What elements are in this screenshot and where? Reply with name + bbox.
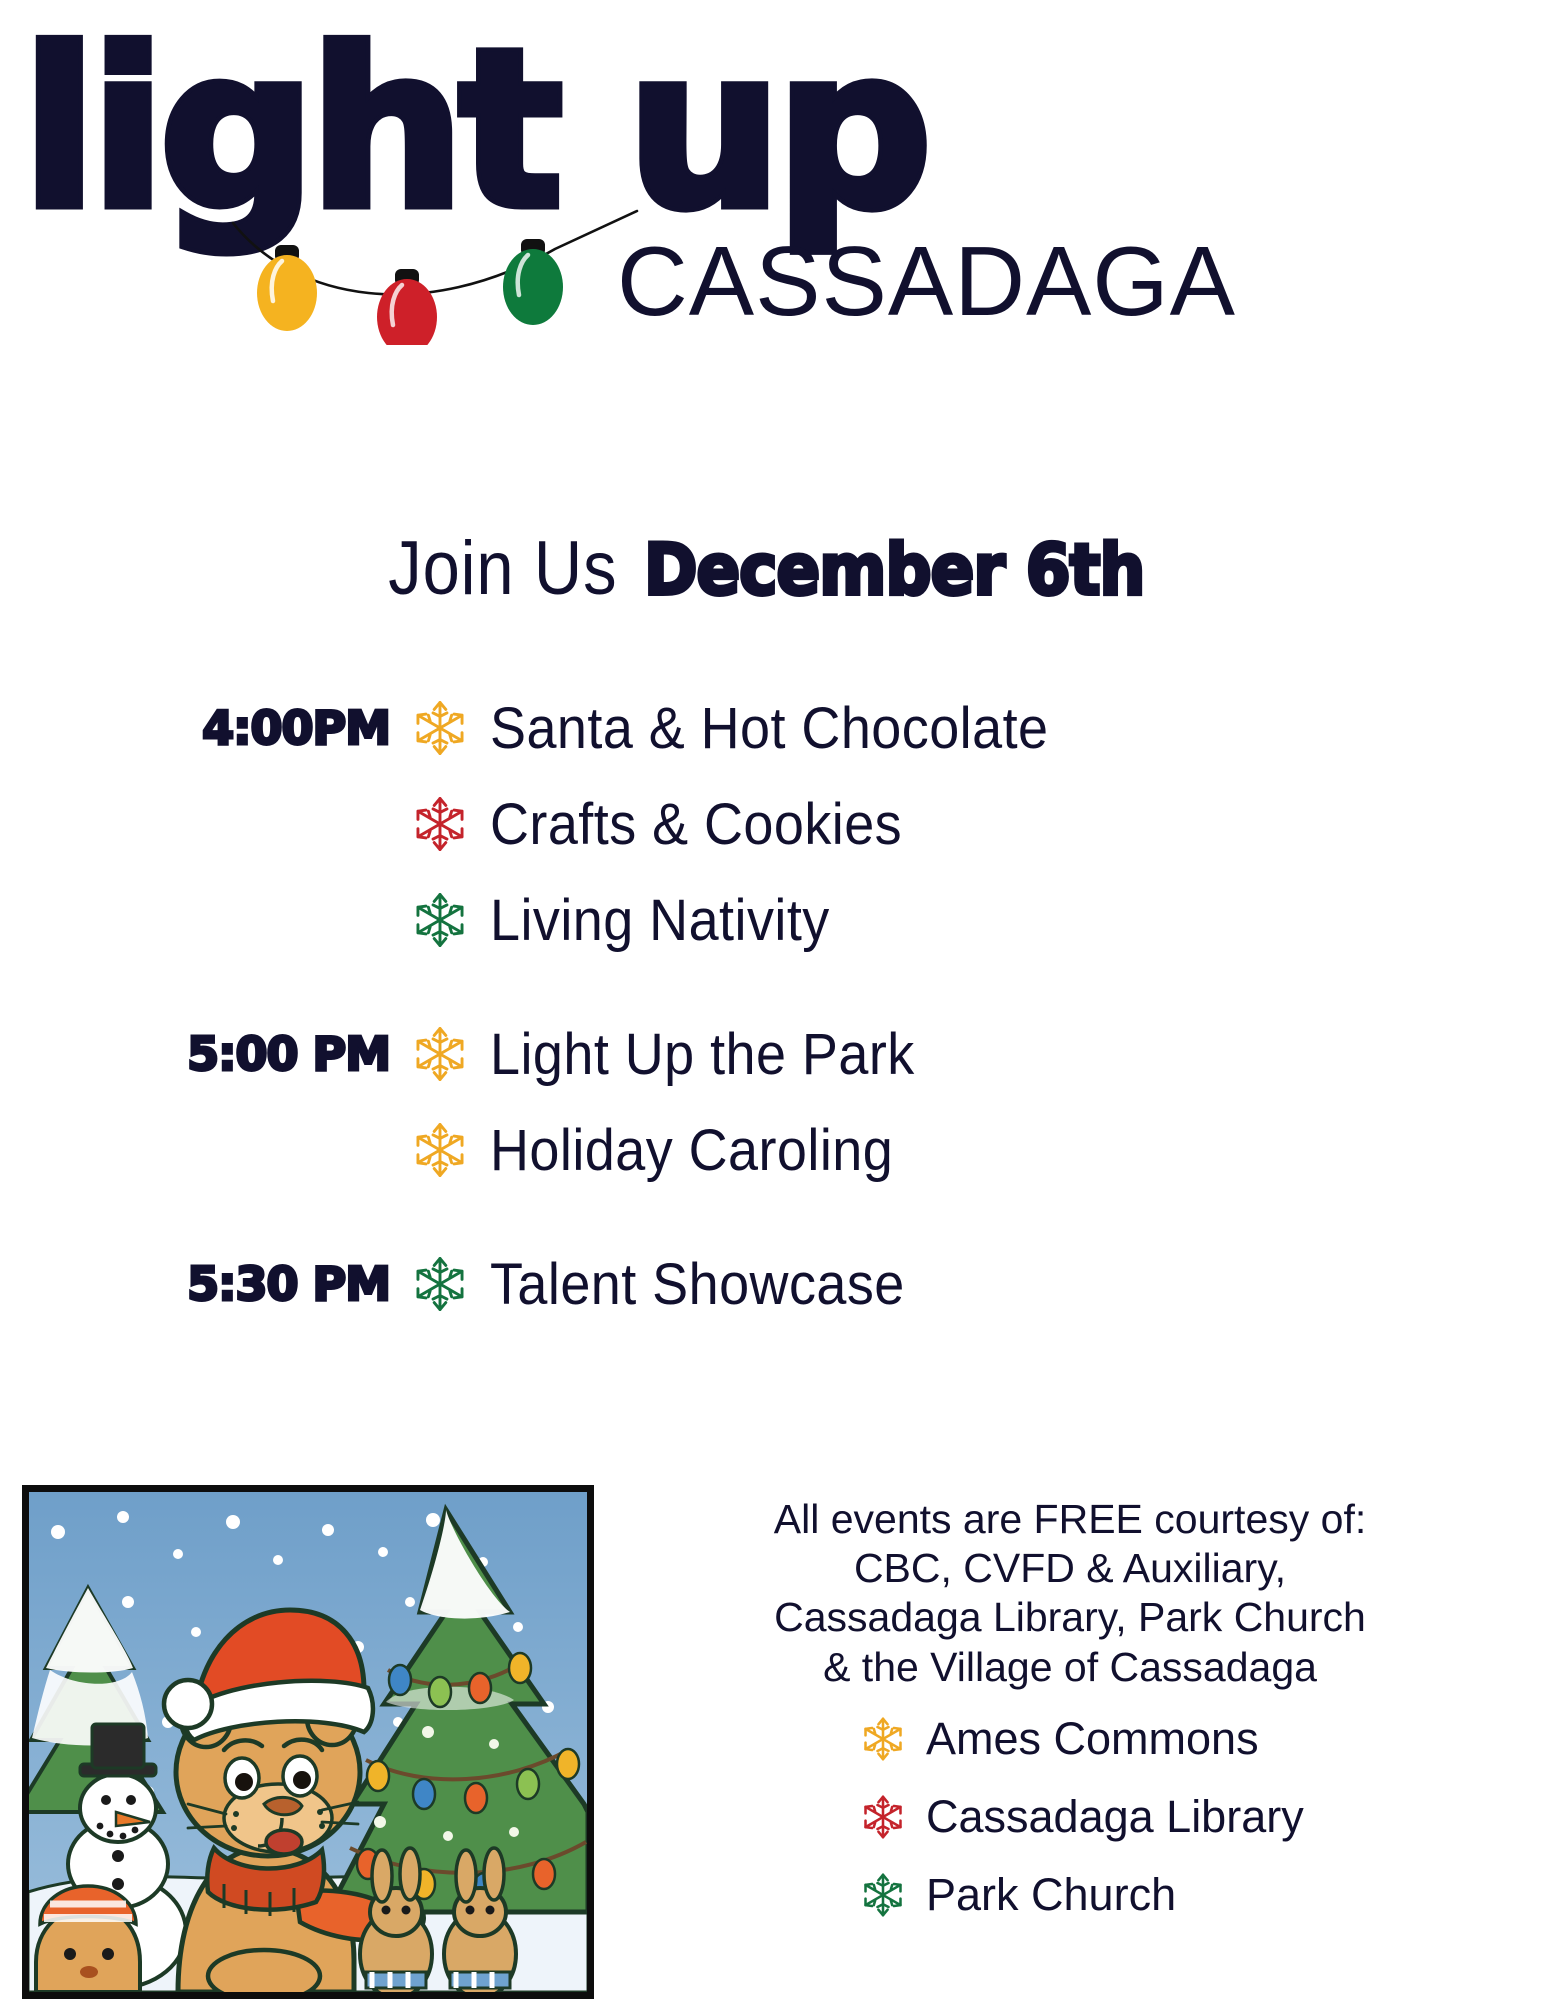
- credits-line-2: CBC, CVFD & Auxiliary,: [620, 1544, 1520, 1593]
- snowflake-icon: [840, 1872, 926, 1918]
- schedule-row: 5:00 PM Light Up the Park: [0, 1006, 1545, 1102]
- bulb-yellow: [257, 245, 317, 331]
- credits-block: All events are FREE courtesy of: CBC, CV…: [620, 1495, 1520, 1692]
- schedule-time: 4:00PM: [0, 701, 390, 755]
- schedule-row: Holiday Caroling: [0, 1102, 1545, 1198]
- schedule-row: 4:00PM Santa & Hot Chocolate: [0, 680, 1545, 776]
- schedule-event: Holiday Caroling: [490, 1117, 893, 1184]
- fox-cub: [36, 1886, 140, 1992]
- bulb-green: [503, 239, 563, 325]
- snowflake-icon: [390, 1121, 490, 1179]
- credits-line-3: Cassadaga Library, Park Church: [620, 1593, 1520, 1642]
- schedule-event: Crafts & Cookies: [490, 791, 902, 858]
- bulb-red: [377, 269, 437, 345]
- join-us-line: Join UsDecember 6th: [0, 525, 1545, 612]
- flyer-page: light up CASSADAGA: [0, 0, 1545, 2000]
- schedule-event: Living Nativity: [490, 887, 830, 954]
- location-label: Park Church: [926, 1869, 1176, 1921]
- join-us-label: Join Us: [389, 525, 618, 612]
- snowflake-icon: [390, 1255, 490, 1313]
- location-row: Park Church: [840, 1856, 1540, 1934]
- event-date: December 6th: [644, 529, 1144, 611]
- location-label: Cassadaga Library: [926, 1791, 1304, 1843]
- schedule-time: 5:00 PM: [0, 1027, 390, 1081]
- schedule-row: Living Nativity: [0, 872, 1545, 968]
- snowflake-icon: [390, 891, 490, 949]
- snowflake-icon: [390, 1025, 490, 1083]
- schedule-time: 5:30 PM: [0, 1257, 390, 1311]
- snowflake-icon: [390, 699, 490, 757]
- holiday-scene-illustration: [22, 1485, 594, 1999]
- schedule-event: Light Up the Park: [490, 1021, 915, 1088]
- location-row: Ames Commons: [840, 1700, 1540, 1778]
- flyer-header: light up CASSADAGA: [0, 0, 1545, 400]
- schedule-event: Santa & Hot Chocolate: [490, 695, 1048, 762]
- schedule-row: 5:30 PM Talent Showcase: [0, 1236, 1545, 1332]
- page-title-town: CASSADAGA: [617, 232, 1236, 330]
- event-schedule: 4:00PM Santa & Hot Chocolate: [0, 680, 1545, 1332]
- schedule-row: Crafts & Cookies: [0, 776, 1545, 872]
- snowflake-icon: [840, 1794, 926, 1840]
- credits-line-4: & the Village of Cassadaga: [620, 1643, 1520, 1692]
- credits-line-1: All events are FREE courtesy of:: [620, 1495, 1520, 1544]
- snowflake-icon: [840, 1716, 926, 1762]
- snowflake-icon: [390, 795, 490, 853]
- location-label: Ames Commons: [926, 1713, 1259, 1765]
- schedule-event: Talent Showcase: [490, 1251, 905, 1318]
- string-lights-graphic: [225, 205, 645, 345]
- location-row: Cassadaga Library: [840, 1778, 1540, 1856]
- locations-list: Ames Commons Cassadaga Library: [840, 1700, 1540, 1934]
